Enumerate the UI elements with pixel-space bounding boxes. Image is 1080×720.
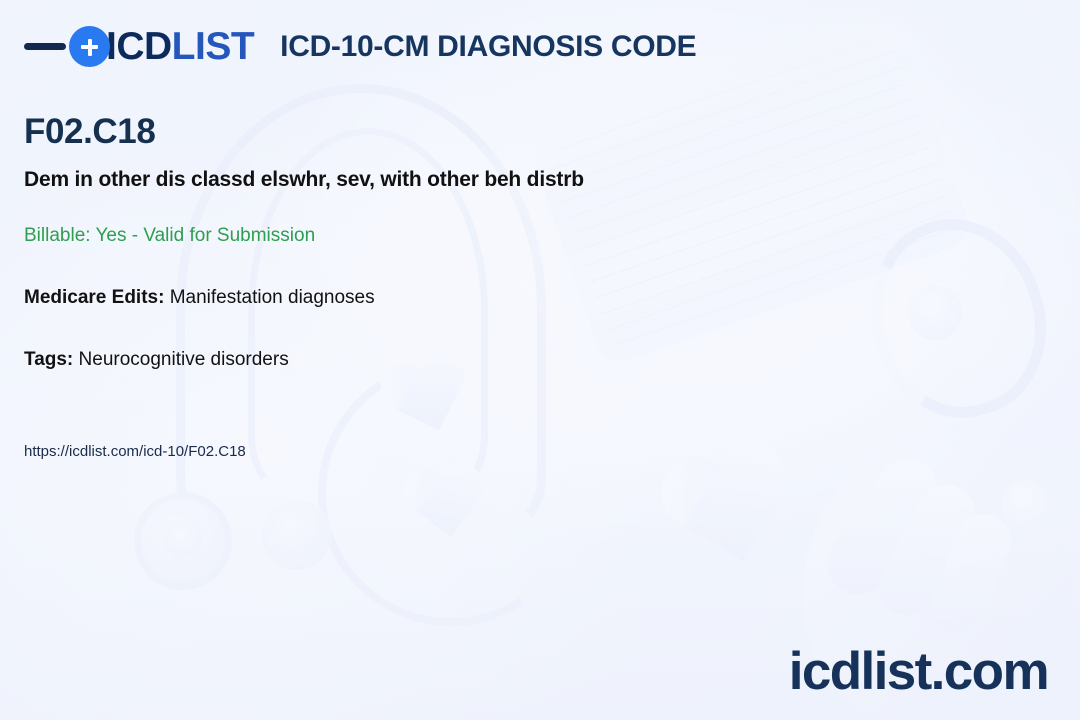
tags-row: Tags: Neurocognitive disorders (24, 349, 289, 372)
icd-code-card: ICDLIST ICD-10-CM DIAGNOSIS CODE F02.C18… (0, 0, 1080, 720)
medicare-edits-value: Manifestation diagnoses (164, 287, 374, 308)
medicare-edits-label: Medicare Edits: (24, 287, 164, 308)
tags-value: Neurocognitive disorders (73, 349, 288, 370)
icdlist-logo[interactable]: ICDLIST (24, 26, 254, 67)
diagnosis-description: Dem in other dis classd elswhr, sev, wit… (24, 167, 584, 192)
card-content: ICDLIST ICD-10-CM DIAGNOSIS CODE F02.C18… (0, 0, 1080, 720)
plus-icon (69, 26, 110, 67)
source-url[interactable]: https://icdlist.com/icd-10/F02.C18 (24, 443, 246, 460)
page-title: ICD-10-CM DIAGNOSIS CODE (280, 30, 696, 64)
medicare-edits-row: Medicare Edits: Manifestation diagnoses (24, 287, 375, 310)
page-header: ICDLIST ICD-10-CM DIAGNOSIS CODE (24, 26, 696, 67)
dash-icon (24, 43, 66, 50)
brand-watermark: icdlist.com (789, 645, 1048, 698)
billable-status: Billable: Yes - Valid for Submission (24, 225, 315, 248)
logo-wordmark: ICDLIST (106, 27, 254, 66)
logo-word-icd: ICD (106, 25, 172, 68)
logo-word-list: LIST (172, 25, 255, 68)
tags-label: Tags: (24, 349, 73, 370)
diagnosis-code: F02.C18 (24, 114, 155, 149)
